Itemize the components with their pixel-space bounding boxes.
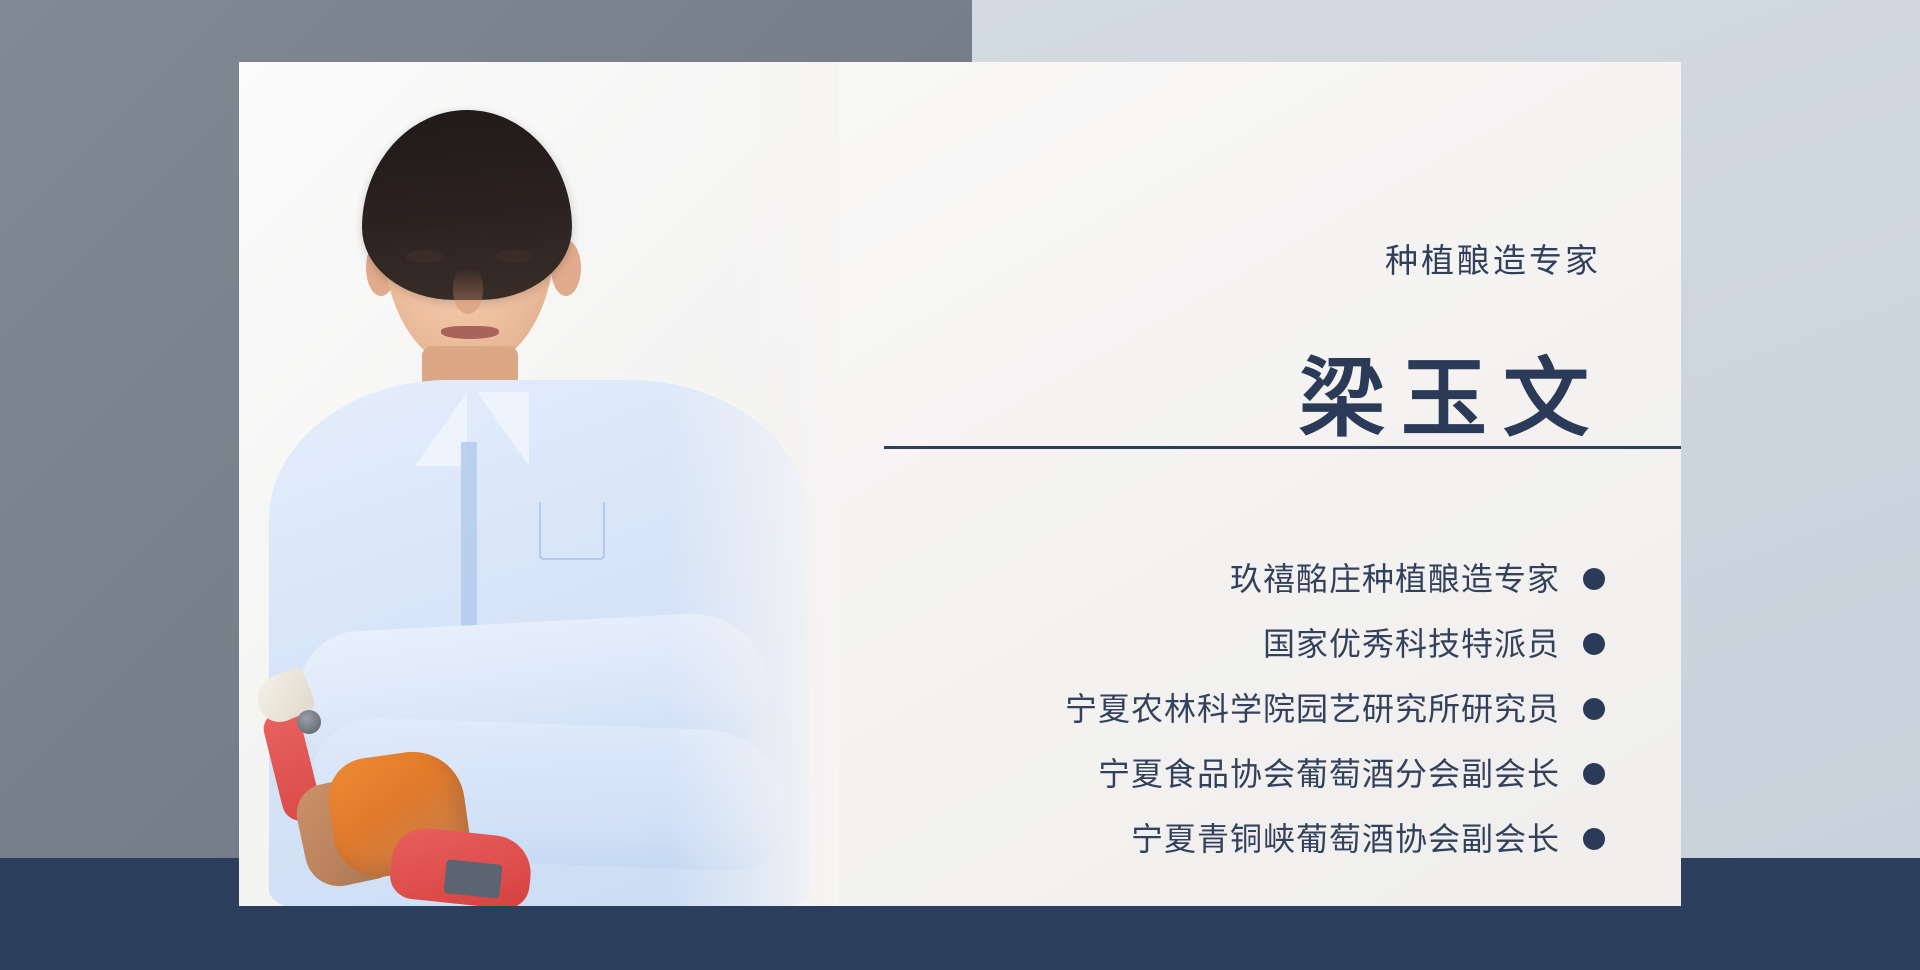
portrait-shirt-pocket	[539, 502, 605, 560]
header-divider-line	[884, 446, 1681, 449]
bullet-dot-icon	[1583, 763, 1605, 785]
list-item: 国家优秀科技特派员	[705, 611, 1605, 676]
pruning-shears-label	[443, 859, 502, 899]
pruning-shears-bolt	[297, 710, 321, 734]
credential-label: 宁夏农林科学院园艺研究所研究员	[1065, 693, 1560, 725]
portrait-eye-left	[406, 250, 444, 263]
credential-label: 宁夏食品协会葡萄酒分会副会长	[1098, 758, 1560, 790]
person-name: 梁玉文	[1283, 356, 1605, 442]
list-item: 宁夏食品协会葡萄酒分会副会长	[705, 741, 1605, 806]
list-item: 宁夏青铜峡葡萄酒协会副会长	[705, 806, 1605, 871]
bullet-dot-icon	[1583, 828, 1605, 850]
portrait-nose	[453, 268, 483, 314]
credential-label: 宁夏青铜峡葡萄酒协会副会长	[1131, 823, 1560, 855]
portrait-collar-left	[415, 392, 467, 466]
list-item: 玖禧酩庄种植酿造专家	[705, 546, 1605, 611]
bullet-dot-icon	[1583, 568, 1605, 590]
credentials-list: 玖禧酩庄种植酿造专家 国家优秀科技特派员 宁夏农林科学院园艺研究所研究员 宁夏食…	[705, 546, 1605, 871]
role-subtitle: 种植酿造专家	[1385, 244, 1601, 277]
poster-canvas: 种植酿造专家 梁玉文 玖禧酩庄种植酿造专家 国家优秀科技特派员 宁夏农林科学院园…	[0, 0, 1920, 970]
bullet-dot-icon	[1583, 698, 1605, 720]
credential-label: 玖禧酩庄种植酿造专家	[1230, 563, 1560, 595]
portrait-collar-right	[477, 392, 529, 466]
profile-card: 种植酿造专家 梁玉文 玖禧酩庄种植酿造专家 国家优秀科技特派员 宁夏农林科学院园…	[239, 62, 1681, 906]
portrait-mouth	[441, 326, 499, 339]
portrait-eye-right	[495, 250, 533, 263]
bullet-dot-icon	[1583, 633, 1605, 655]
credential-label: 国家优秀科技特派员	[1263, 628, 1560, 660]
list-item: 宁夏农林科学院园艺研究所研究员	[705, 676, 1605, 741]
